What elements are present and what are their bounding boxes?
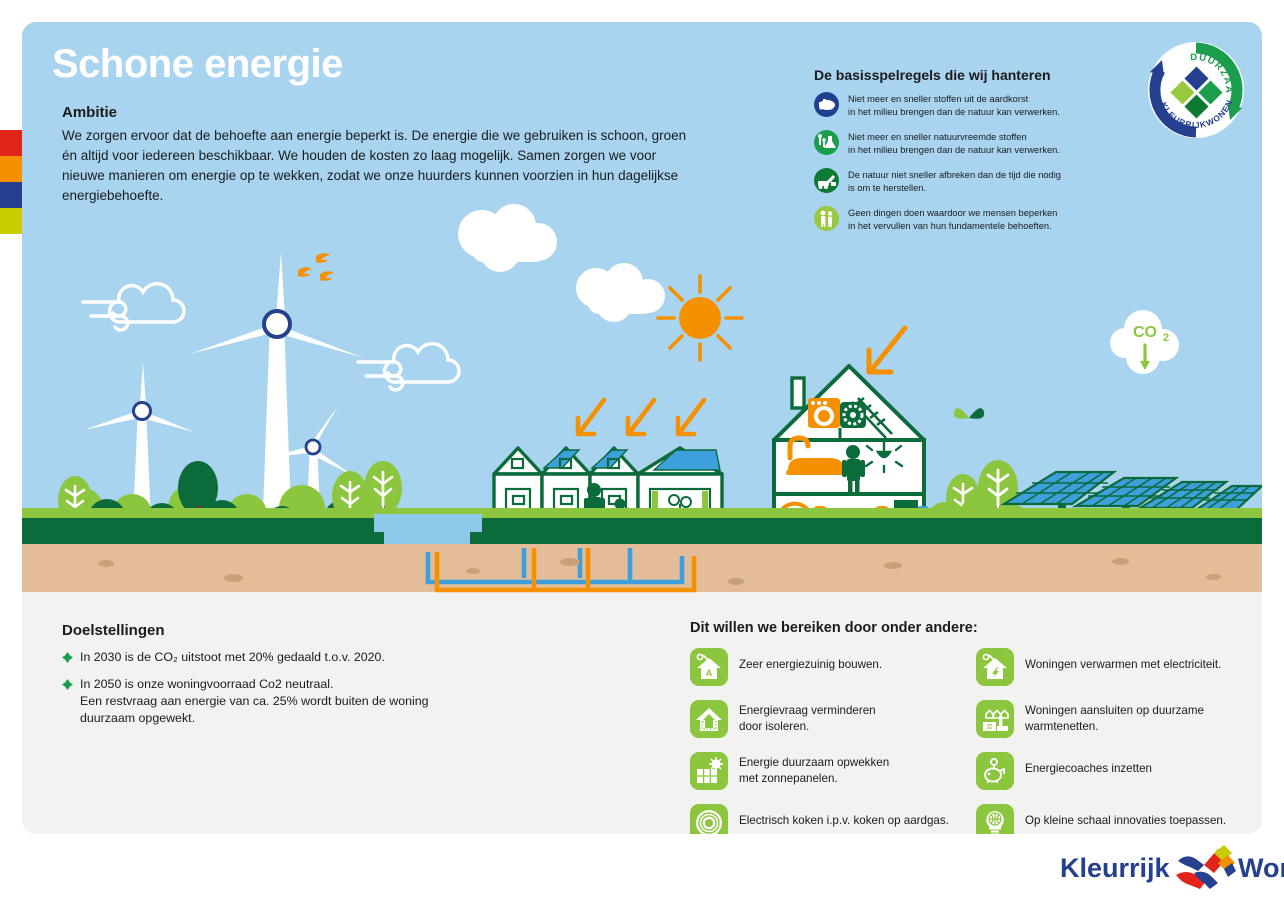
action-text: Woningen aansluiten op duurzame warmtene…	[1025, 700, 1204, 735]
pebble	[728, 578, 744, 585]
color-bar-yellow	[0, 208, 22, 234]
action-line: warmtenetten.	[1025, 720, 1098, 733]
action-item: Energiecoaches inzetten	[976, 752, 1244, 794]
rule-line-1: De natuur niet sneller afbreken dan de t…	[848, 170, 1061, 180]
goal-text: In 2050 is onze woningvoorraad Co2 neutr…	[80, 676, 429, 727]
green-arrow-bullet-icon	[62, 652, 73, 663]
actions-column-left: A Zeer energiezuinig bouwen. Energievraa…	[690, 648, 958, 834]
oil-tank-icon	[814, 92, 839, 117]
goals-block: Doelstellingen In 2030 is de CO₂ uitstoo…	[62, 622, 662, 737]
rule-item: De natuur niet sneller afbreken dan de t…	[814, 168, 1114, 195]
insulated-house-icon	[690, 700, 728, 738]
rule-text: De natuur niet sneller afbreken dan de t…	[848, 168, 1061, 195]
co2-cloud-icon: CO 2	[1107, 307, 1187, 387]
rules-block: De basisspelregels die wij hanteren Niet…	[814, 67, 1114, 244]
sun-icon	[654, 272, 746, 364]
water-body	[374, 514, 482, 532]
main-card: CO 2	[22, 22, 1262, 834]
rule-line-1: Niet meer en sneller natuurvreemde stoff…	[848, 132, 1027, 142]
green-arrow-bullet-icon	[62, 679, 73, 690]
actions-heading: Dit willen we bereiken door onder andere…	[690, 620, 1250, 636]
pebble	[224, 574, 243, 582]
rules-heading: De basisspelregels die wij hanteren	[814, 67, 1114, 83]
brand-word-2: Wonen	[1238, 853, 1284, 884]
pebble	[98, 560, 114, 567]
page-title: Schone energie	[52, 42, 343, 87]
action-text: Woningen verwarmen met electriciteit.	[1025, 648, 1221, 673]
excavator-icon	[814, 168, 839, 193]
action-item: Woningen verwarmen met electriciteit.	[976, 648, 1244, 690]
rule-text: Geen dingen doen waardoor we mensen bepe…	[848, 206, 1057, 233]
geothermal-pipes	[412, 538, 702, 598]
goal-item: In 2050 is onze woningvoorraad Co2 neutr…	[62, 676, 662, 727]
brand-word-1: Kleurrijk	[1060, 853, 1170, 884]
goal-item: In 2030 is de CO₂ uitstoot met 20% gedaa…	[62, 649, 662, 666]
illustration-scene: CO 2	[22, 22, 1262, 592]
rule-item: Geen dingen doen waardoor we mensen bepe…	[814, 206, 1114, 233]
induction-hob-icon	[690, 804, 728, 834]
ambition-heading: Ambitie	[62, 104, 117, 121]
rule-line-1: Geen dingen doen waardoor we mensen bepe…	[848, 208, 1057, 218]
pebble	[1112, 558, 1129, 565]
butterfly-icon	[952, 400, 986, 430]
rule-line-2: in het milieu brengen dan de natuur kan …	[848, 107, 1060, 117]
action-line: met zonnepanelen.	[739, 772, 838, 785]
actions-column-right: Woningen verwarmen met electriciteit. Wo…	[976, 648, 1244, 834]
flask-icon	[814, 130, 839, 155]
action-item: Op kleine schaal innovaties toepassen.	[976, 804, 1244, 834]
rule-line-2: in het vervullen van hun fundamentele be…	[848, 221, 1052, 231]
goal-line: Een restvraag aan energie van ca. 25% wo…	[80, 694, 429, 708]
action-item: Energievraag verminderen door isoleren.	[690, 700, 958, 742]
ambition-body: We zorgen ervoor dat de behoefte aan ene…	[62, 126, 687, 206]
action-line: Woningen verwarmen met electriciteit.	[1025, 658, 1221, 671]
action-line: Energievraag verminderen	[739, 704, 876, 717]
action-line: Woningen aansluiten op duurzame	[1025, 704, 1204, 717]
rule-item: Niet meer en sneller stoffen uit de aard…	[814, 92, 1114, 119]
goal-line: In 2050 is onze woningvoorraad Co2 neutr…	[80, 677, 334, 691]
cloud-big-icon	[442, 202, 572, 274]
goal-line: In 2030 is de CO₂ uitstoot met 20% gedaa…	[80, 650, 385, 664]
rule-line-1: Niet meer en sneller stoffen uit de aard…	[848, 94, 1028, 104]
svg-text:CO: CO	[1133, 324, 1157, 341]
color-bar-red	[0, 130, 22, 156]
hands-brush-mark-icon	[1174, 845, 1236, 893]
solar-panel-icon	[690, 752, 728, 790]
color-bar-orange	[0, 156, 22, 182]
actions-block: Dit willen we bereiken door onder andere…	[690, 620, 1250, 834]
pebble	[466, 568, 480, 574]
pebble	[884, 562, 902, 569]
rule-text: Niet meer en sneller natuurvreemde stoff…	[848, 130, 1060, 157]
action-text: Energiecoaches inzetten	[1025, 752, 1152, 777]
svg-text:A: A	[706, 668, 713, 678]
goal-text: In 2030 is de CO₂ uitstoot met 20% gedaa…	[80, 649, 385, 666]
pebble	[1206, 574, 1221, 580]
infographic-page: CO 2	[0, 0, 1284, 909]
lightbulb-icon	[976, 804, 1014, 834]
action-line: Energie duurzaam opwekken	[739, 756, 889, 769]
action-item: Woningen aansluiten op duurzame warmtene…	[976, 700, 1244, 742]
rule-text: Niet meer en sneller stoffen uit de aard…	[848, 92, 1060, 119]
rule-item: Niet meer en sneller natuurvreemde stoff…	[814, 130, 1114, 157]
people-icon	[814, 206, 839, 231]
action-item: Electrisch koken i.p.v. koken op aardgas…	[690, 804, 958, 834]
rule-line-2: in het milieu brengen dan de natuur kan …	[848, 145, 1060, 155]
piggy-bank-icon	[976, 752, 1014, 790]
action-text: Energie duurzaam opwekken met zonnepanel…	[739, 752, 889, 787]
action-item: Energie duurzaam opwekken met zonnepanel…	[690, 752, 958, 794]
action-text: Op kleine schaal innovaties toepassen.	[1025, 804, 1226, 829]
action-line: Op kleine schaal innovaties toepassen.	[1025, 814, 1226, 827]
action-text: Zeer energiezuinig bouwen.	[739, 648, 882, 673]
action-text: Energievraag verminderen door isoleren.	[739, 700, 876, 735]
color-bar-blue	[0, 182, 22, 208]
house-electric-icon	[976, 648, 1014, 686]
action-item: A Zeer energiezuinig bouwen.	[690, 648, 958, 690]
action-line: Energiecoaches inzetten	[1025, 762, 1152, 775]
action-line: Electrisch koken i.p.v. koken op aardgas…	[739, 814, 949, 827]
energy-label-house-icon: A	[690, 648, 728, 686]
duurzaam-kleurrijkwonen-logo: DUURZAAM KLEURRIJKWONEN	[1144, 38, 1248, 142]
rule-line-2: is om te herstellen.	[848, 183, 926, 193]
district-heating-icon	[976, 700, 1014, 738]
goals-heading: Doelstellingen	[62, 622, 662, 639]
pebble	[560, 558, 580, 566]
goal-line: duurzaam opgewekt.	[80, 711, 195, 725]
action-text: Electrisch koken i.p.v. koken op aardgas…	[739, 804, 949, 829]
action-line: Zeer energiezuinig bouwen.	[739, 658, 882, 671]
action-line: door isoleren.	[739, 720, 809, 733]
svg-text:2: 2	[1163, 332, 1169, 344]
kleurrijk-wonen-logo: Kleurrijk Wonen	[1060, 845, 1265, 893]
brand-color-bars	[0, 130, 22, 234]
